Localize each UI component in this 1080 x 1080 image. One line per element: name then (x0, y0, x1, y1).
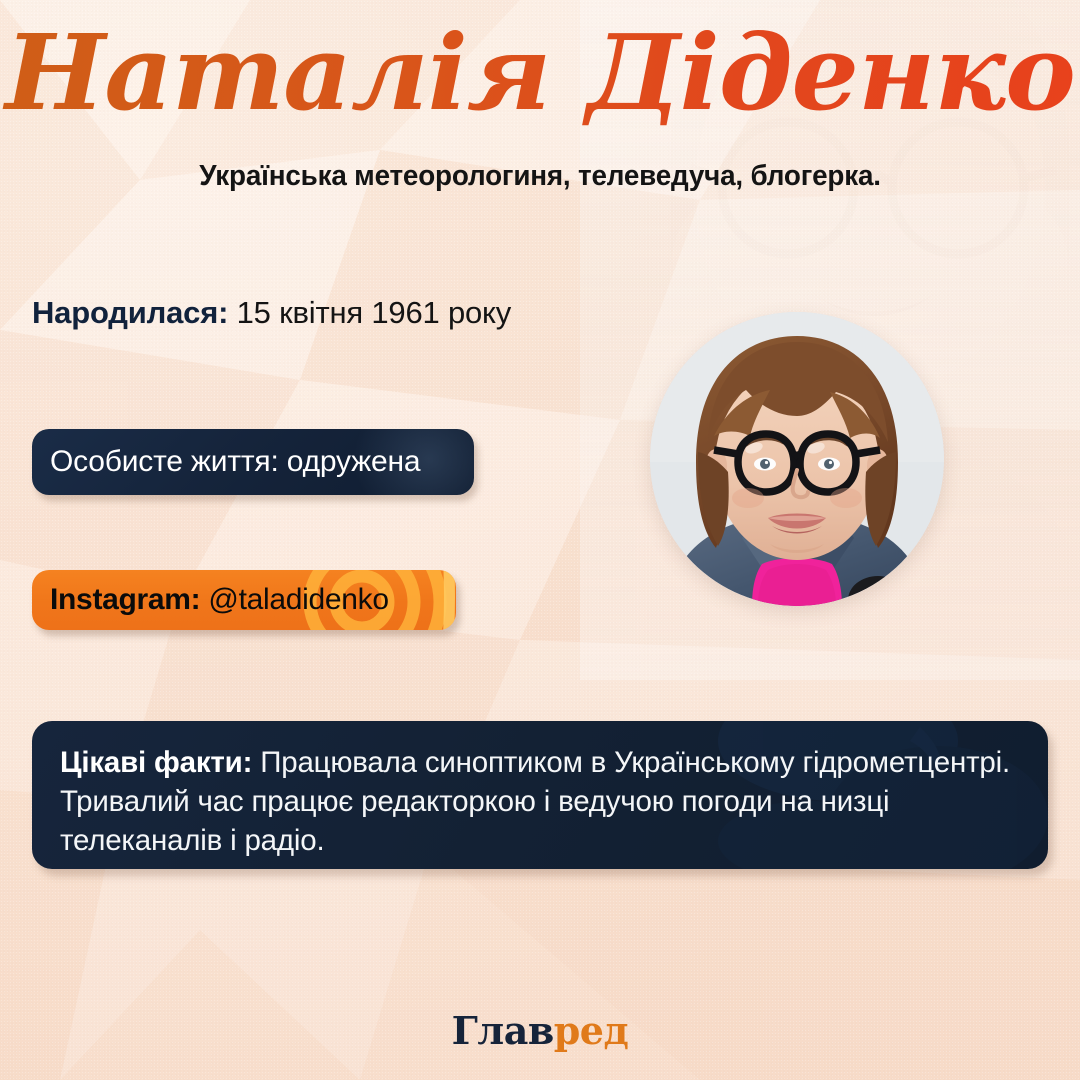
portrait-image (650, 312, 944, 606)
instagram-handle[interactable]: @taladidenko (208, 583, 388, 616)
facts-text: Цікаві факти: Працювала синоптиком в Укр… (60, 743, 1020, 861)
birth-date-line: Народилася: 15 квітня 1961 року (32, 295, 511, 331)
content-layer: Наталія Діденко Українська метеорологиня… (0, 0, 1080, 1080)
logo-part-2: ред (554, 1008, 629, 1053)
brand-logo[interactable]: Главред (0, 1008, 1080, 1053)
facts-label: Цікаві факти: (60, 746, 252, 779)
instagram-badge[interactable]: Instagram: @taladidenko (32, 570, 456, 630)
page-subtitle: Українська метеорологиня, телеведуча, бл… (22, 160, 1059, 193)
page-title: Наталія Діденко (0, 18, 1080, 128)
logo-part-1: Глав (452, 1008, 554, 1053)
birth-date-value: 15 квітня 1961 року (237, 295, 511, 330)
instagram-text: Instagram: @taladidenko (50, 583, 389, 617)
personal-life-badge[interactable]: Особисте життя: одружена (32, 429, 474, 495)
instagram-label: Instagram: (50, 583, 200, 616)
infographic-card: Наталія Діденко Українська метеорологиня… (0, 0, 1080, 1080)
birth-date-label: Народилася: (32, 295, 228, 330)
personal-life-text: Особисте життя: одружена (50, 445, 420, 479)
interesting-facts-box: Цікаві факти: Працювала синоптиком в Укр… (32, 721, 1048, 869)
avatar (650, 312, 944, 606)
